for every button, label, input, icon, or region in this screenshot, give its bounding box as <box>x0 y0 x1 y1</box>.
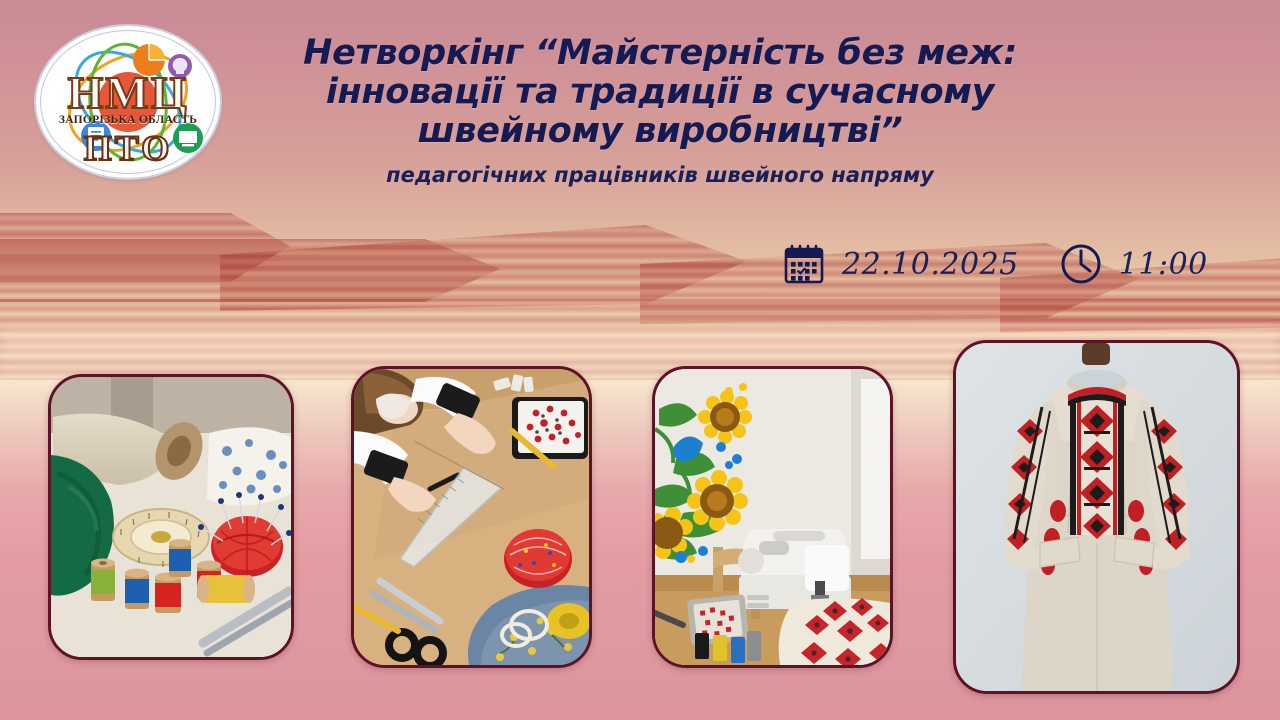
sewing-machine <box>738 529 851 609</box>
logo-secondary-text: ПТО <box>36 130 220 166</box>
sewing-supplies-illustration <box>51 377 291 657</box>
event-time-item: 11:00 <box>1057 240 1208 288</box>
event-date-item: 22.10.2025 <box>780 240 1019 288</box>
pincushion-2 <box>504 529 572 588</box>
pattern-drafting-illustration <box>354 369 589 665</box>
poster-header: НМЦ ЗАПОРІЗЬКА ОБЛАСТЬ ПТО Нетворкінг “М… <box>0 0 1280 200</box>
logo-region-text: ЗАПОРІЗЬКА ОБЛАСТЬ <box>36 114 220 126</box>
poster-subtitle: педагогічних працівників швейного напрям… <box>260 163 1060 187</box>
sewing-supplies-photo <box>48 374 294 660</box>
sewing-machine-photo <box>652 366 893 668</box>
tablet-device <box>512 397 588 459</box>
poster-canvas: НМЦ ЗАПОРІЗЬКА ОБЛАСТЬ ПТО Нетворкінг “М… <box>0 0 1280 720</box>
embroidered-towel <box>779 598 890 665</box>
event-time-text: 11:00 <box>1119 247 1208 282</box>
event-info-row: 22.10.2025 11:00 <box>780 236 1280 292</box>
poster-title: Нетворкінг “Майстерність без меж: іннова… <box>260 34 1060 152</box>
center-embroidery-panel <box>1070 395 1124 539</box>
embroidered-dress-photo <box>953 340 1240 694</box>
logo-main-text: НМЦ <box>36 70 220 116</box>
event-date-text: 22.10.2025 <box>842 247 1019 282</box>
pattern-drafting-photo <box>351 366 592 668</box>
organization-logo: НМЦ ЗАПОРІЗЬКА ОБЛАСТЬ ПТО <box>36 26 220 178</box>
embroidered-dress-illustration <box>956 343 1237 691</box>
sewing-machine-illustration <box>655 369 890 665</box>
calendar-icon <box>780 240 828 288</box>
clock-icon <box>1057 240 1105 288</box>
patterned-fabric <box>207 427 291 506</box>
